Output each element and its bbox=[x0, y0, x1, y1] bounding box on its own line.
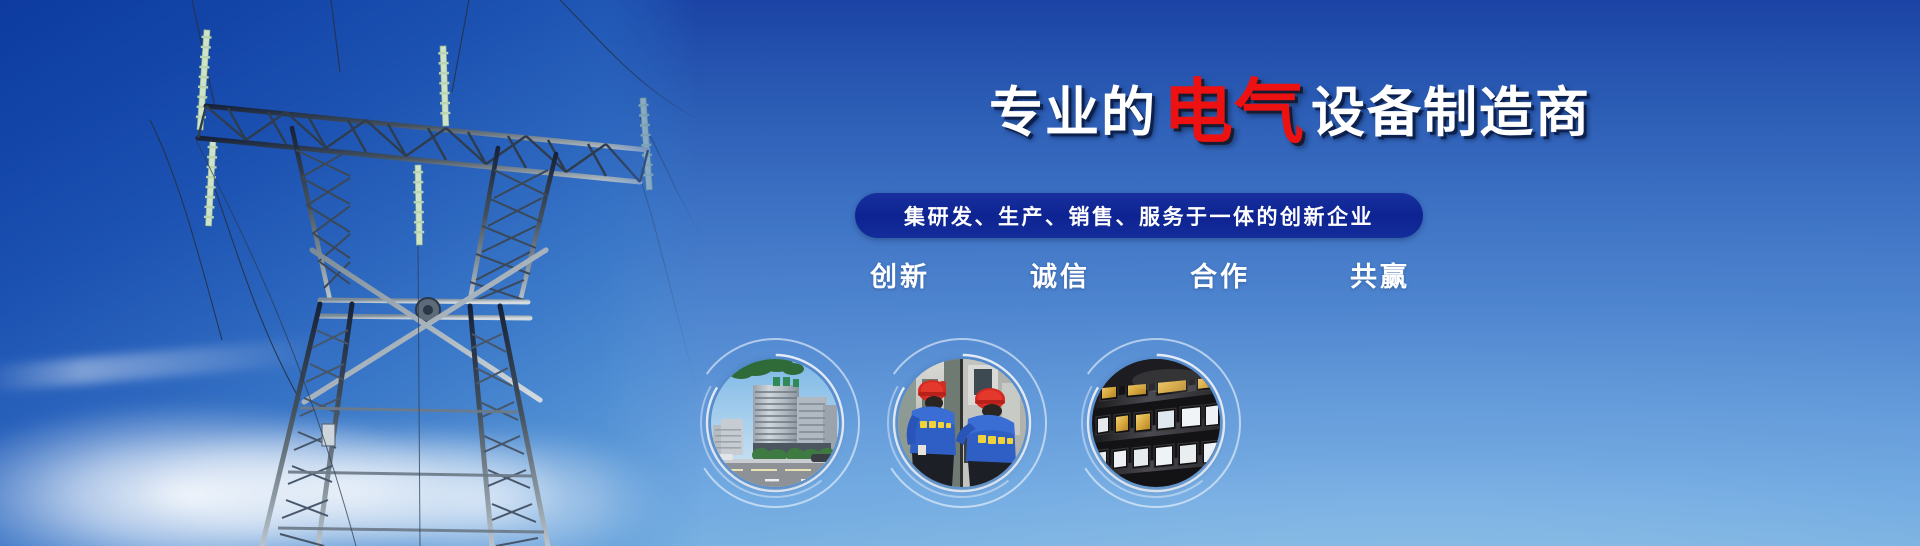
headline-part-1: 专业的 bbox=[989, 86, 1157, 140]
keyword-winwin: 共赢 bbox=[1350, 255, 1410, 294]
transmission-tower-photo bbox=[0, 0, 700, 546]
keyword-cooperation: 合作 bbox=[1190, 255, 1250, 294]
page-title: 专业的电气设备制造商 bbox=[660, 72, 1920, 142]
keyword-integrity: 诚信 bbox=[1030, 255, 1090, 294]
pylon-illustration bbox=[0, 0, 700, 546]
photo-circle-office-building bbox=[682, 330, 868, 516]
keyword-innovation: 创新 bbox=[870, 255, 930, 294]
certificates-wall-photo bbox=[1092, 359, 1220, 487]
subtitle-pill: 集研发、生产、销售、服务于一体的创新企业 bbox=[855, 193, 1423, 238]
banner-content: 专业的电气设备制造商 集研发、生产、销售、服务于一体的创新企业 创新 诚信 合作… bbox=[660, 0, 1920, 546]
headline-part-3: 设备制造商 bbox=[1311, 86, 1591, 140]
subtitle-pill-label: 集研发、生产、销售、服务于一体的创新企业 bbox=[904, 201, 1374, 231]
keyword-list: 创新 诚信 合作 共赢 bbox=[870, 255, 1410, 294]
office-building-photo bbox=[711, 359, 839, 487]
photo-circle-row bbox=[660, 330, 1920, 540]
photo-circle-certificates bbox=[1063, 330, 1249, 516]
photo-circle-technicians bbox=[869, 330, 1055, 516]
headline-highlight: 电气 bbox=[1163, 77, 1305, 147]
promo-banner: 专业的电气设备制造商 集研发、生产、销售、服务于一体的创新企业 创新 诚信 合作… bbox=[0, 0, 1920, 546]
technicians-installing-photo bbox=[898, 359, 1026, 487]
